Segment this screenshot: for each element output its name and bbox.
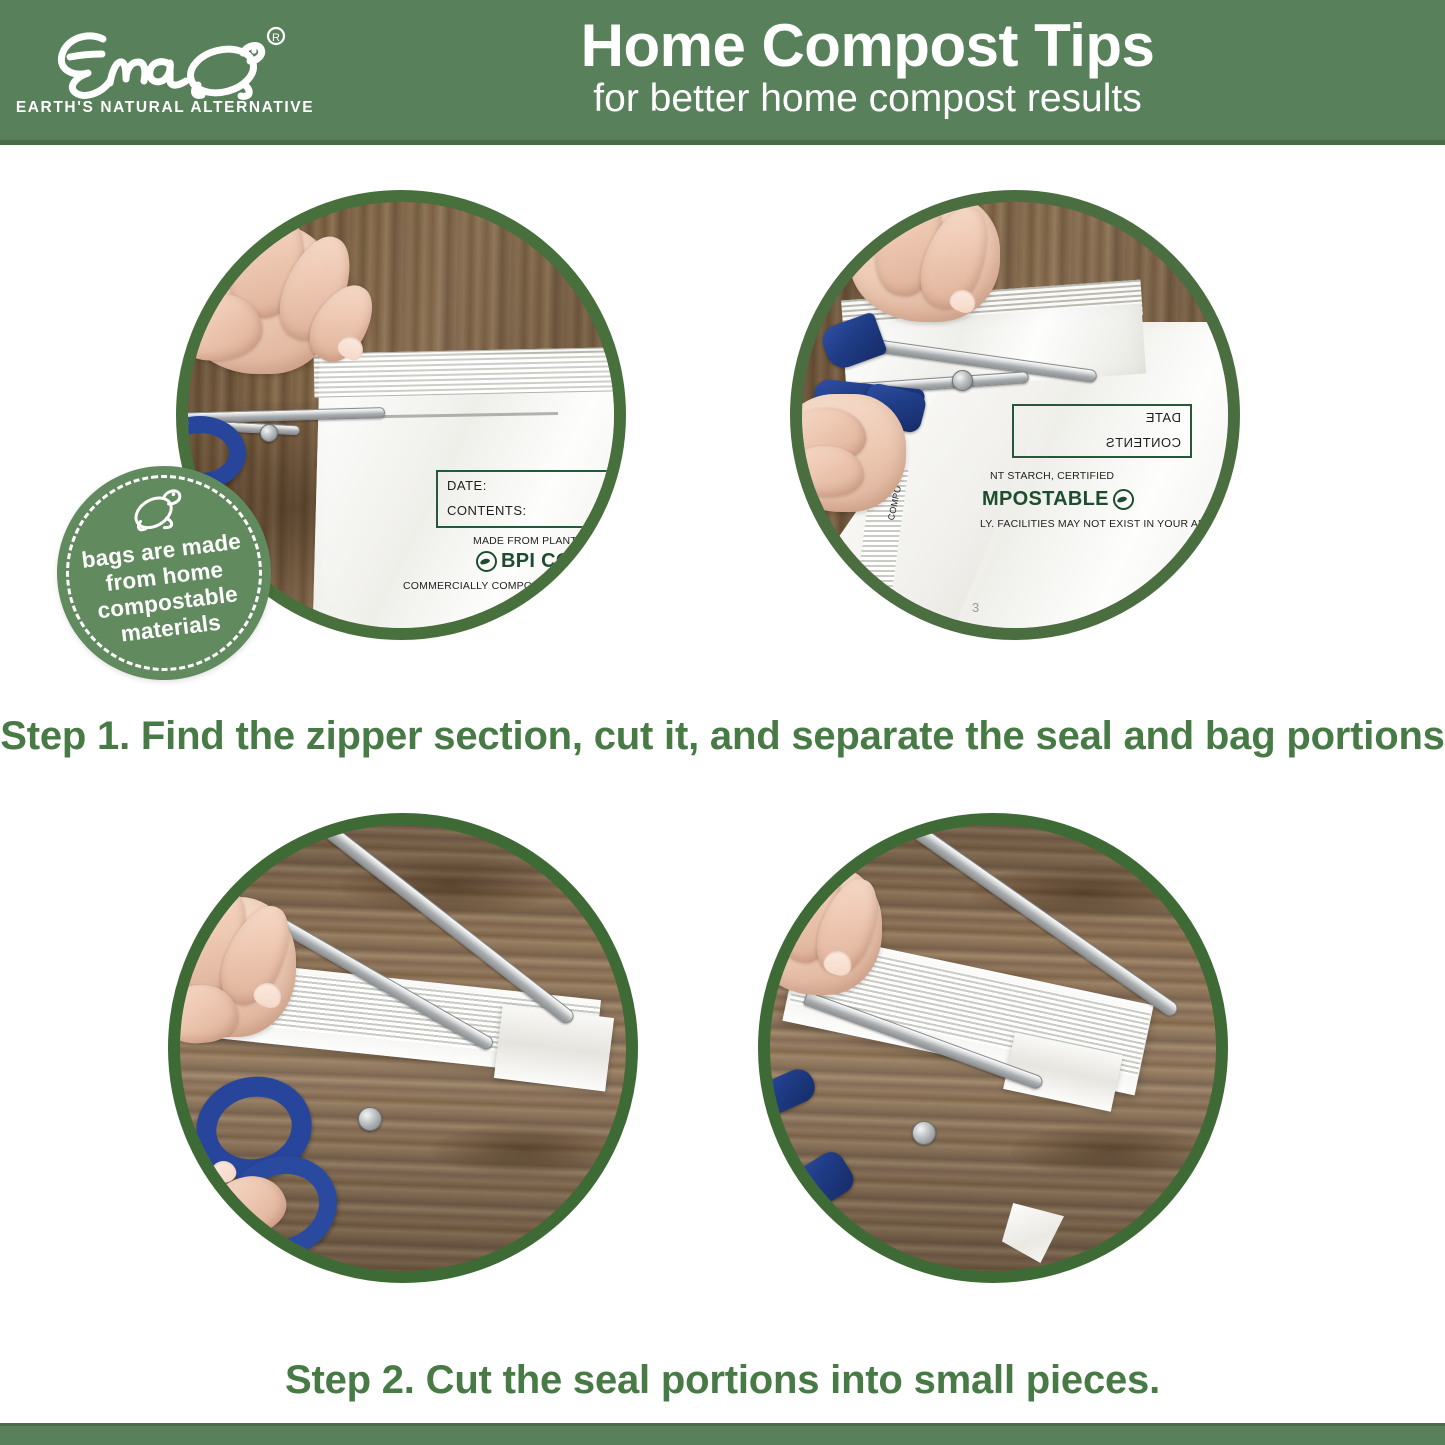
scissors-pivot bbox=[358, 1107, 382, 1131]
bag-contents-label: CONTENTS: bbox=[447, 499, 626, 524]
page-footer bbox=[0, 1423, 1445, 1445]
bag-label-box: DATE: CONTENTS: bbox=[436, 470, 626, 528]
brand-tagline: EARTH'S NATURAL ALTERNATIVE bbox=[16, 99, 314, 117]
page-title: Home Compost Tips bbox=[581, 16, 1155, 76]
svg-text:R: R bbox=[272, 32, 280, 44]
step-2-caption: Step 2. Cut the seal portions into small… bbox=[0, 1358, 1445, 1403]
photo-step2-cut-strip bbox=[168, 813, 638, 1283]
header-title-block: Home Compost Tips for better home compos… bbox=[330, 16, 1445, 121]
scissors-pivot bbox=[912, 1121, 936, 1145]
bag-bpi-compostable-text: BPI COMPOST bbox=[476, 550, 626, 573]
bag-page-mark: 3 bbox=[972, 600, 979, 615]
page-subtitle: for better home compost results bbox=[593, 78, 1141, 121]
scissors-pivot bbox=[952, 370, 973, 391]
ena-turtle-logo-icon: R bbox=[40, 23, 290, 103]
bpi-compostable-seal-icon bbox=[1113, 489, 1134, 510]
page-header: R EARTH'S NATURAL ALTERNATIVE Home Compo… bbox=[0, 0, 1445, 145]
turtle-icon bbox=[125, 483, 188, 536]
brand-logo: R EARTH'S NATURAL ALTERNATIVE bbox=[0, 0, 330, 143]
photo-step1-separate-seal: DATE CONTENTS NT STARCH, CERTIFIED MPOST… bbox=[790, 190, 1240, 640]
bag-date-label: DATE bbox=[1023, 406, 1181, 431]
bag-made-from-text: MADE FROM PLANT STARCH, CER bbox=[473, 535, 626, 547]
bag-contents-label: CONTENTS bbox=[1023, 431, 1181, 456]
step-1-caption: Step 1. Find the zipper section, cut it,… bbox=[0, 714, 1445, 759]
bag-compostable-text: MPOSTABLE bbox=[982, 488, 1134, 511]
photo-step2-small-pieces bbox=[758, 813, 1228, 1283]
bpi-compostable-seal-icon bbox=[476, 551, 497, 572]
bag-made-from-text: NT STARCH, CERTIFIED bbox=[990, 470, 1114, 482]
bag-date-label: DATE: bbox=[447, 474, 626, 499]
bag-disclaimer-text: LY. FACILITIES MAY NOT EXIST IN YOUR AR bbox=[980, 518, 1206, 530]
scissors-pivot bbox=[260, 424, 278, 442]
bag-label-box-reverse: DATE CONTENTS bbox=[1012, 404, 1192, 458]
registered-trademark-icon: R bbox=[268, 28, 284, 44]
bag-disclaimer-text: COMMERCIALLY COMPOSTABLE ONLY. FACILITIE… bbox=[403, 580, 626, 592]
